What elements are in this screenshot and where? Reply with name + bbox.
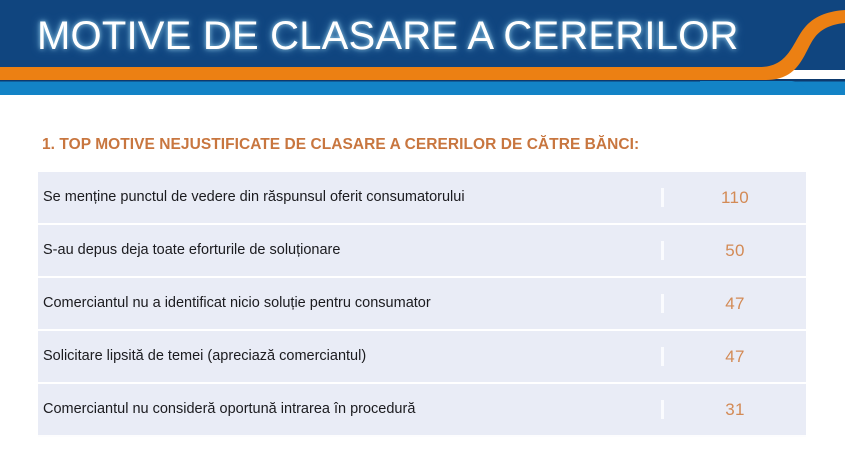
reason-count: 31: [664, 400, 806, 420]
banner-bottom-edge: [0, 95, 845, 97]
reason-label: Comerciantul nu consideră oportună intra…: [38, 400, 664, 418]
table-row: Comerciantul nu a identificat nicio solu…: [38, 278, 806, 331]
reason-label: Se menține punctul de vedere din răspuns…: [38, 188, 664, 206]
table-row: S-au depus deja toate eforturile de solu…: [38, 225, 806, 278]
reason-label: Comerciantul nu a identificat nicio solu…: [38, 294, 664, 312]
reasons-table: Se menține punctul de vedere din răspuns…: [38, 172, 806, 437]
banner-lightblue-tail: [700, 81, 808, 95]
header-banner: MOTIVE DE CLASARE A CERERILOR: [0, 0, 845, 97]
reason-count: 50: [664, 241, 806, 261]
table-row: Se menține punctul de vedere din răspuns…: [38, 172, 806, 225]
reason-label: S-au depus deja toate eforturile de solu…: [38, 241, 664, 259]
table-row: Solicitare lipsită de temei (apreciază c…: [38, 331, 806, 384]
table-row: Comerciantul nu consideră oportună intra…: [38, 384, 806, 437]
reason-count: 47: [664, 347, 806, 367]
section-heading: 1. TOP MOTIVE NEJUSTIFICATE DE CLASARE A…: [42, 136, 639, 154]
page-title: MOTIVE DE CLASARE A CERERILOR: [37, 8, 777, 64]
reason-count: 47: [664, 294, 806, 314]
reason-label: Solicitare lipsită de temei (apreciază c…: [38, 347, 664, 365]
reason-count: 110: [664, 188, 806, 208]
